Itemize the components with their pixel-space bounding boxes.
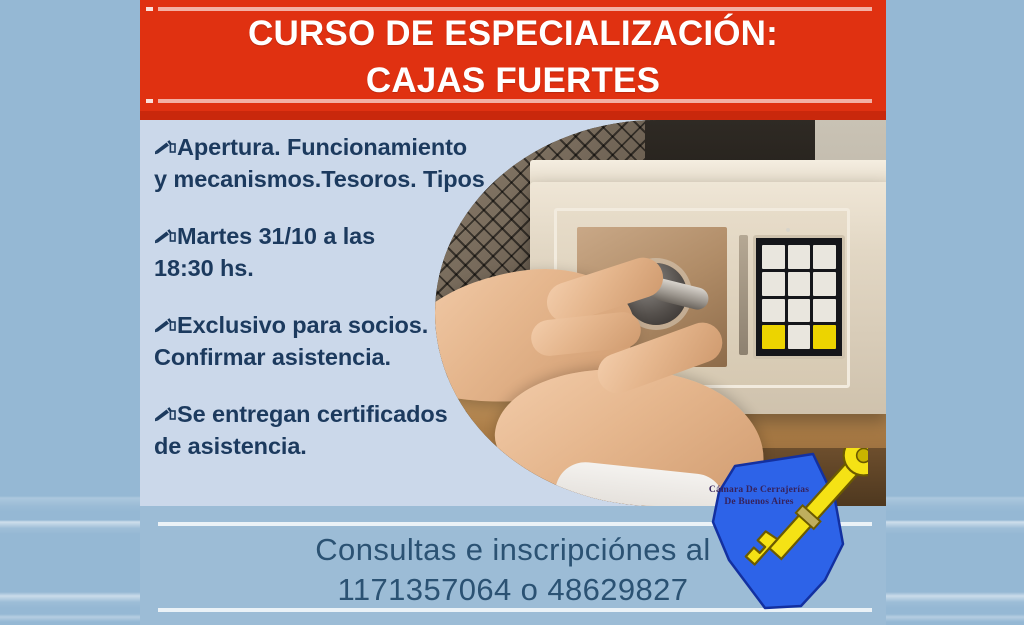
keypad-key — [813, 272, 836, 296]
keypad-key-yellow — [762, 325, 785, 349]
writing-hand-icon — [154, 134, 176, 164]
logo-text: Cámara De Cerrajerías De Buenos Aires — [699, 484, 819, 508]
keypad-key — [788, 272, 811, 296]
page-title: CURSO DE ESPECIALIZACIÓN: CAJAS FUERTES — [140, 10, 886, 104]
logo-text-line-1: Cámara De Cerrajerías — [699, 484, 819, 496]
writing-hand-icon — [154, 312, 176, 342]
banner-bottom-edge — [140, 111, 886, 120]
header-banner: CURSO DE ESPECIALIZACIÓN: CAJAS FUERTES — [140, 0, 886, 120]
writing-hand-icon — [154, 401, 176, 431]
safe-keypad — [753, 235, 845, 359]
page-title-line-1: CURSO DE ESPECIALIZACIÓN: — [248, 14, 778, 53]
logo-text-line-2: De Buenos Aires — [699, 496, 819, 508]
keypad-key — [813, 245, 836, 269]
keypad-key-yellow — [813, 325, 836, 349]
safe-door-seam — [739, 235, 748, 355]
keypad-key — [788, 325, 811, 349]
keypad-led — [786, 228, 790, 232]
page-title-line-2: CAJAS FUERTES — [140, 57, 886, 104]
camara-de-cerrajerias-logo: Cámara De Cerrajerías De Buenos Aires — [693, 448, 868, 620]
keypad-key — [813, 299, 836, 323]
keypad-key — [788, 245, 811, 269]
keypad-key — [762, 272, 785, 296]
bullet-text: Apertura. Funcionamiento — [177, 134, 467, 160]
bullet-text: Exclusivo para socios. — [177, 312, 428, 338]
keypad-key — [762, 245, 785, 269]
bullet-text: Martes 31/10 a las — [177, 223, 375, 249]
keypad-key — [762, 299, 785, 323]
writing-hand-icon — [154, 223, 176, 253]
keypad-key — [788, 299, 811, 323]
poster-canvas: CURSO DE ESPECIALIZACIÓN: CAJAS FUERTES … — [0, 0, 1024, 625]
bullet-text: Se entregan certificados — [177, 401, 448, 427]
